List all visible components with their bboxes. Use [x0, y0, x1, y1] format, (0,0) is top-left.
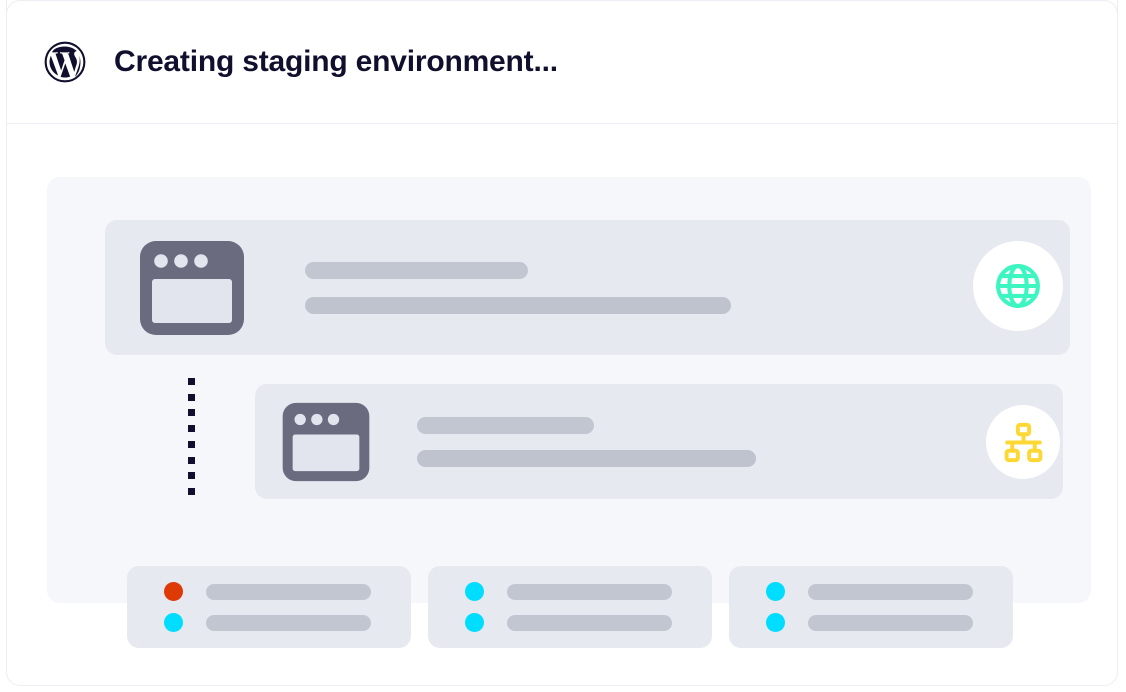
connector-dot: [188, 488, 195, 495]
globe-icon: [992, 260, 1044, 312]
skeleton-bar: [206, 615, 371, 631]
connector-dot: [188, 441, 195, 448]
status-line: [164, 613, 411, 632]
skeleton-bar: [808, 615, 973, 631]
status-line: [465, 613, 712, 632]
window-titlebar: Creating staging environment...: [7, 0, 1117, 124]
skeleton-bar: [417, 417, 594, 434]
skeleton-bar: [206, 584, 371, 600]
browser-window-icon: [281, 401, 371, 483]
skeleton-bar: [507, 615, 672, 631]
skeleton-bar: [305, 297, 731, 314]
status-dot: [766, 613, 785, 632]
screenshot-root: Creating staging environment...: [0, 0, 1126, 692]
status-dot: [164, 582, 183, 601]
page-title: Creating staging environment...: [114, 45, 558, 79]
dotted-connector: [188, 378, 195, 495]
staging-site-row[interactable]: [255, 384, 1063, 499]
status-line: [164, 582, 411, 601]
status-line: [766, 582, 1013, 601]
skeleton-bar: [507, 584, 672, 600]
connector-dot: [188, 425, 195, 432]
sitemap-badge[interactable]: [986, 405, 1060, 479]
connector-dot: [188, 394, 195, 401]
connector-dot: [188, 378, 195, 385]
production-site-row[interactable]: [105, 220, 1070, 355]
staging-row-skeleton: [417, 417, 756, 467]
status-line: [766, 613, 1013, 632]
connector-dot: [188, 472, 195, 479]
status-dot: [465, 613, 484, 632]
connector-dot: [188, 409, 195, 416]
status-dot: [766, 582, 785, 601]
status-line: [465, 582, 712, 601]
connector-dot: [188, 457, 195, 464]
sitemap-icon: [1001, 420, 1046, 465]
app-window: Creating staging environment...: [6, 0, 1118, 686]
globe-badge[interactable]: [973, 241, 1063, 331]
browser-window-icon: [138, 239, 246, 337]
status-card[interactable]: [729, 566, 1013, 648]
skeleton-bar: [417, 450, 756, 467]
skeleton-bar: [808, 584, 973, 600]
skeleton-bar: [305, 262, 528, 279]
status-dot: [465, 582, 484, 601]
status-card[interactable]: [127, 566, 411, 648]
status-dot: [164, 613, 183, 632]
wordpress-logo-icon: [44, 41, 86, 83]
status-card[interactable]: [428, 566, 712, 648]
production-row-skeleton: [305, 262, 731, 314]
status-card-list: [127, 566, 1013, 648]
